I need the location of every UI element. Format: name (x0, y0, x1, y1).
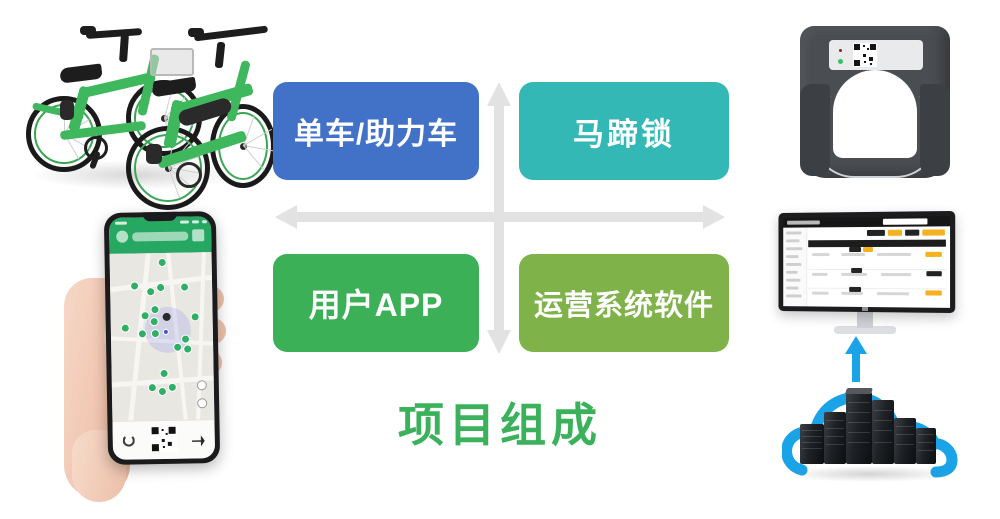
lock-qr-plate (829, 40, 923, 70)
lock-jaw-right (920, 84, 950, 176)
selected-marker[interactable] (163, 313, 171, 321)
app-header-bar (109, 216, 212, 254)
desktop-monitor-photo (766, 212, 964, 340)
operations-dashboard[interactable] (783, 216, 950, 308)
server-shadow (788, 466, 952, 482)
handlebar-stem (119, 34, 129, 62)
quadrant-box-app-label: 用户APP (309, 280, 444, 326)
monitor-bezel (778, 211, 955, 313)
table-row[interactable] (808, 288, 946, 308)
quadrant-box-app[interactable]: 用户APP (273, 254, 479, 352)
vertical-double-arrow (485, 82, 513, 354)
phone-in-hand-photo (62, 206, 248, 506)
quadrant-box-bike[interactable]: 单车/助力车 (273, 82, 479, 180)
lock-indicator-green (838, 59, 843, 64)
handle-grip-left (80, 26, 96, 35)
ebike-crank (176, 162, 202, 188)
toolbar-button[interactable] (888, 230, 902, 236)
lock-qr-code (853, 43, 877, 67)
quadrant-box-lock-label: 马蹄锁 (573, 109, 675, 154)
locate-me-button[interactable] (197, 380, 207, 390)
lock-indicator-red (839, 49, 842, 52)
lock-opening (833, 70, 917, 158)
ebike-stem (215, 42, 226, 69)
phone-notch (143, 212, 177, 222)
table-header (808, 240, 946, 248)
lock-unit-rear (60, 100, 74, 120)
monitor-stand (857, 312, 873, 328)
ebike-grip-left (188, 28, 204, 37)
toolbar-button[interactable] (922, 229, 945, 235)
toolbar-button[interactable] (867, 230, 885, 236)
dashboard-topbar (783, 216, 950, 228)
ebike-handlebar (194, 26, 268, 42)
app-title (132, 232, 188, 242)
saddle (59, 63, 103, 83)
menu-icon[interactable] (192, 229, 204, 241)
quadrant-box-system-label: 运营系统软件 (534, 282, 714, 324)
dashboard-sidebar[interactable] (783, 227, 807, 306)
ebike-lock-unit (146, 144, 162, 164)
quadrant-box-lock[interactable]: 马蹄锁 (519, 82, 729, 180)
table-row[interactable] (808, 249, 946, 270)
front-basket (150, 48, 194, 76)
table-row[interactable] (808, 269, 946, 290)
quadrant-box-bike-label: 单车/助力车 (294, 109, 458, 153)
shared-bicycles-photo (18, 8, 276, 208)
toolbar-button[interactable] (905, 230, 919, 236)
page-title: 项目组成 (0, 396, 1000, 454)
slide-canvas: 单车/助力车 马蹄锁 用户APP 运营系统软件 项目组成 (0, 0, 1000, 519)
my-location-dot (163, 329, 169, 335)
server-top (845, 388, 873, 394)
profile-icon[interactable] (116, 231, 128, 243)
lock-jaw-left (800, 84, 830, 176)
quadrant-box-system[interactable]: 运营系统软件 (519, 254, 729, 352)
smart-horseshoe-lock-photo (786, 18, 964, 190)
dashboard-search[interactable] (883, 218, 928, 224)
